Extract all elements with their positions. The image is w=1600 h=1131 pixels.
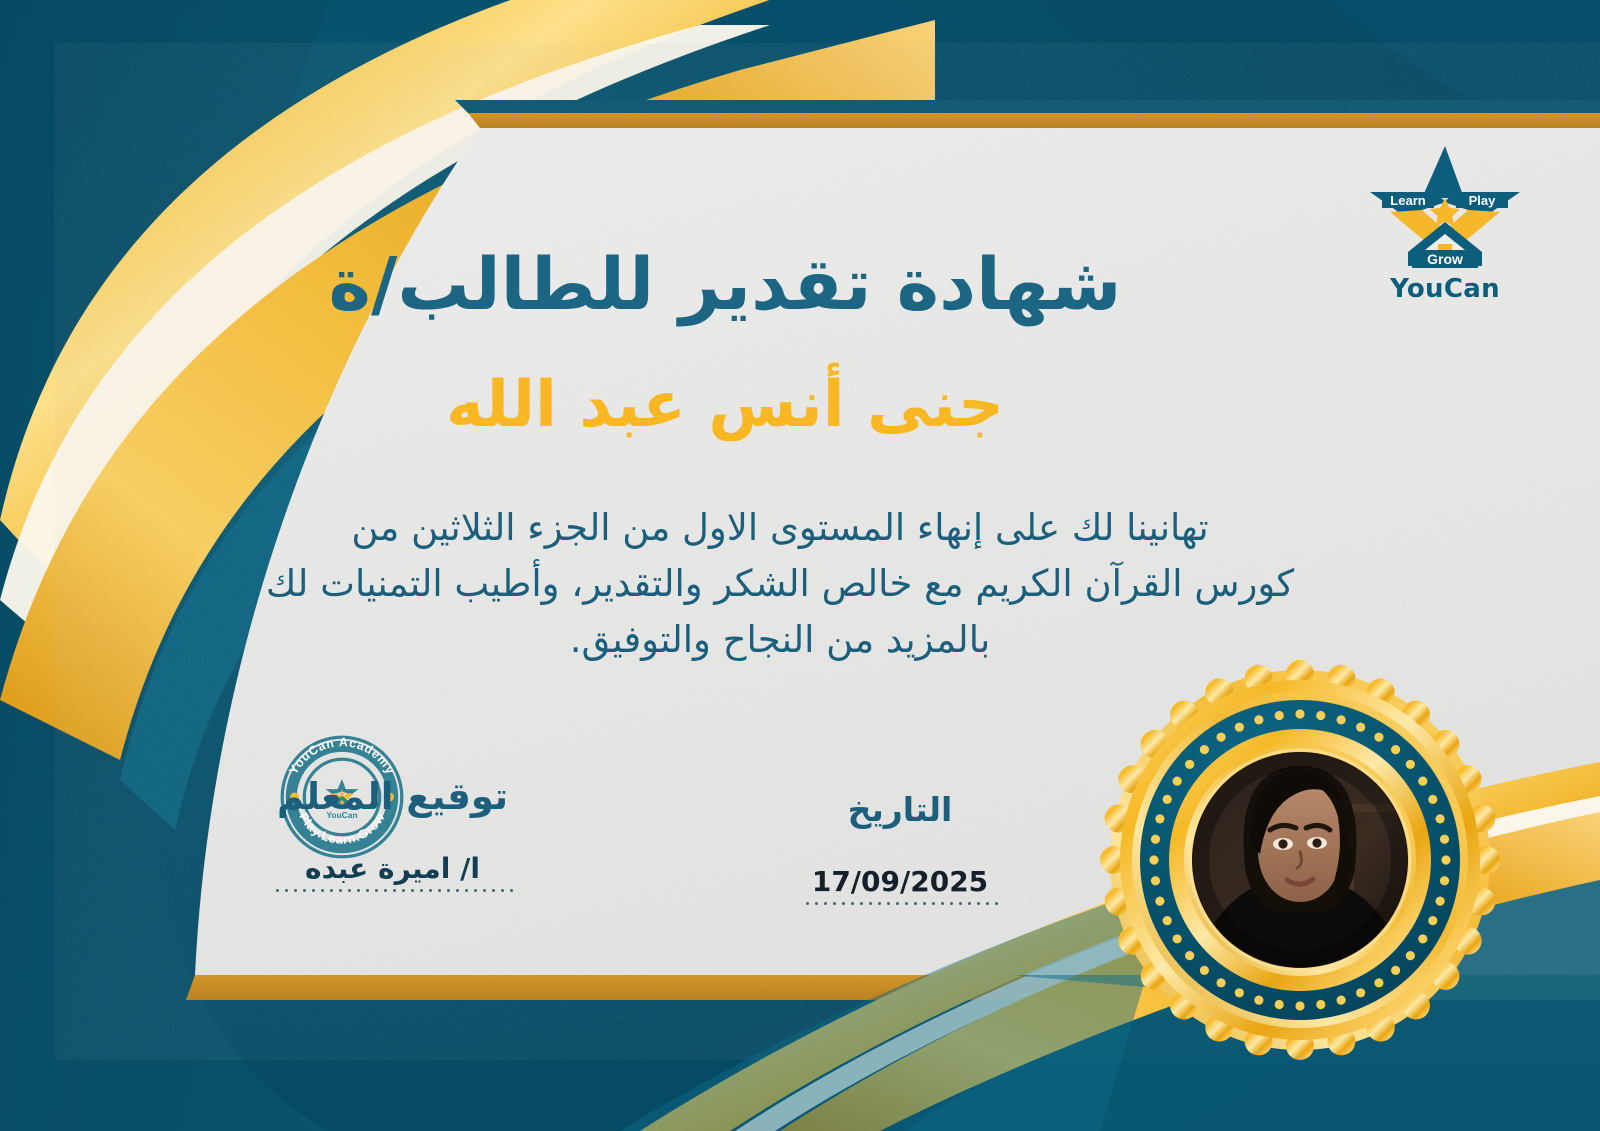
student-photo-medallion bbox=[1094, 654, 1506, 1066]
date-block: التاريخ 17/09/2025 bbox=[790, 790, 1010, 905]
date-label: التاريخ bbox=[790, 790, 1010, 829]
logo-label-play: Play bbox=[1469, 193, 1497, 208]
medallion-frame-icon bbox=[1094, 654, 1506, 1066]
date-value: 17/09/2025 bbox=[790, 865, 1010, 898]
signature-label: توقيع المعلم bbox=[255, 775, 530, 818]
logo-label-learn: Learn bbox=[1390, 193, 1425, 208]
body-line: كورس القرآن الكريم مع خالص الشكر والتقدي… bbox=[200, 556, 1360, 612]
date-dotted-line bbox=[803, 902, 998, 905]
certificate-canvas: Learn Play Grow YouCan شهادة تقدير للطال… bbox=[0, 0, 1600, 1131]
certificate-body: تهانينا لك على إنهاء المستوى الاول من ال… bbox=[200, 500, 1360, 669]
body-line: تهانينا لك على إنهاء المستوى الاول من ال… bbox=[200, 500, 1360, 556]
signature-dotted-line bbox=[273, 889, 513, 892]
student-name: جنى أنس عبد الله bbox=[0, 370, 1600, 440]
certificate-title: شهادة تقدير للطالب/ة bbox=[0, 246, 1600, 324]
student-photo bbox=[1192, 752, 1408, 968]
